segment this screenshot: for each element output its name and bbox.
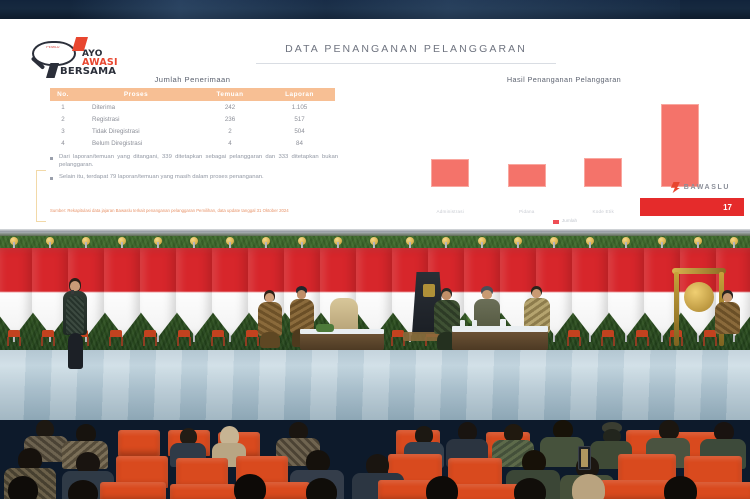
chart-bars (412, 95, 718, 187)
chart-bar (584, 158, 622, 187)
stage-chair (176, 330, 192, 346)
table-row: 4 Belum Diregistrasi 4 84 (50, 138, 335, 150)
ceiling-light-sheen (70, 0, 680, 19)
chart-title: Hasil Penanganan Pelanggaran (404, 75, 724, 84)
cell-temuan: 2 (196, 125, 264, 137)
cell-laporan: 1.105 (264, 101, 335, 113)
audience-seat (118, 430, 160, 456)
audience-member-foreground (648, 476, 714, 499)
penerimaan-table: No. Proses Temuan Laporan 1 Diterima 242… (50, 88, 335, 150)
stage-chair (142, 330, 158, 346)
bullet-text: Selain itu, terdapat 79 laporan/temuan y… (59, 174, 264, 182)
standing-speaker (60, 278, 90, 378)
penerimaan-table-block: Jumlah Penerimaan No. Proses Temuan Lapo… (50, 75, 335, 150)
table-cloth (300, 329, 384, 334)
audience-member-foreground (498, 478, 562, 499)
bullet-dot-icon (50, 177, 53, 180)
stage-chair (600, 330, 616, 346)
cell-no: 1 (50, 101, 76, 113)
audience-member-foreground (292, 478, 354, 499)
audience-area (0, 420, 750, 499)
cell-laporan: 504 (264, 125, 335, 137)
title-divider (256, 63, 556, 64)
logo-glass-text: PEMILU (38, 46, 68, 58)
flag-cloth (176, 248, 214, 336)
flag-cloth (0, 248, 34, 336)
water-bottle (500, 319, 506, 328)
chart-bar (508, 164, 546, 187)
bullet-dot-icon (50, 157, 53, 160)
legend-label: Jumlah (562, 219, 577, 224)
audience-member-foreground (54, 480, 114, 499)
bar-column (567, 95, 640, 187)
audience-member-hijab-foreground (556, 474, 620, 499)
column-header-proses: Proses (76, 88, 196, 101)
table-caption: Jumlah Penerimaan (50, 75, 335, 84)
stage-chair (210, 330, 226, 346)
cell-laporan: 517 (264, 113, 335, 125)
conference-hall (0, 232, 750, 499)
audience-member-foreground (220, 474, 282, 499)
flag-cloth (608, 248, 646, 336)
x-tick-label: Kode Etik (567, 209, 640, 214)
hedge-top-rail (0, 232, 750, 236)
table-row: 1 Diterima 242 1.105 (50, 101, 335, 113)
projection-screen: PEMILU AYO AWASI BERSAMA DATA PENANGANAN… (0, 19, 750, 232)
flag-cloth (572, 248, 610, 336)
stage-chair (566, 330, 582, 346)
conference-table (300, 332, 384, 350)
slide-footnote: Sumber: Rekapitulasi data jajaran Bawasl… (50, 208, 410, 213)
column-header-temuan: Temuan (196, 88, 264, 101)
floor-reflection (0, 350, 750, 420)
water-glass (460, 320, 465, 328)
bullet-text: Dari laporan/temuan yang ditangani, 339 … (59, 154, 338, 169)
column-header-laporan: Laporan (264, 88, 335, 101)
gong-frame-top (672, 268, 726, 274)
slide-title: DATA PENANGANAN PELANGGARAN (256, 43, 556, 55)
gong-frame-left (674, 272, 679, 346)
bawaslu-mark-icon (671, 182, 680, 193)
ceiling-band (0, 0, 750, 19)
conference-table (452, 330, 548, 350)
table-header-row: No. Proses Temuan Laporan (50, 88, 335, 101)
stage-chair (634, 330, 650, 346)
chart-plot-area: Administrasi Pidana Kode Etik Hukum Lain… (412, 95, 718, 187)
stage-chair (108, 330, 124, 346)
cell-temuan: 4 (196, 138, 264, 150)
chart-bar (431, 159, 469, 187)
cell-proses: Belum Diregistrasi (76, 138, 196, 150)
cell-laporan: 84 (264, 138, 335, 150)
chart-bar (661, 104, 699, 187)
smartphone-recording (578, 446, 591, 470)
stage-chair (40, 330, 56, 346)
table-row: 2 Registrasi 236 517 (50, 113, 335, 125)
bullet-list: Dari laporan/temuan yang ditangani, 339 … (50, 154, 338, 187)
cell-no: 3 (50, 125, 76, 137)
audience-member-foreground (0, 476, 56, 499)
bar-column (643, 95, 716, 187)
flag-cloth (104, 248, 142, 336)
water-glass (472, 320, 477, 328)
cell-temuan: 236 (196, 113, 264, 125)
phone-screen (581, 449, 588, 467)
flag-cloth (140, 248, 178, 336)
footnote-bracket (36, 170, 46, 222)
bawaslu-brand: BAWASLU (671, 182, 730, 193)
stage-chair (6, 330, 22, 346)
stage-floor (0, 350, 750, 420)
cell-proses: Diterima (76, 101, 196, 113)
cell-no: 2 (50, 113, 76, 125)
list-item: Dari laporan/temuan yang ditangani, 339 … (50, 154, 338, 169)
audience-member-foreground (410, 476, 474, 499)
legend-swatch-icon (553, 220, 559, 224)
cell-temuan: 242 (196, 101, 264, 113)
bar-column (414, 95, 487, 187)
cell-no: 4 (50, 138, 76, 150)
slide-page-number: 17 (640, 198, 744, 216)
bawaslu-wordmark: BAWASLU (684, 184, 730, 191)
bar-column (490, 95, 563, 187)
chart-legend: Jumlah (412, 219, 718, 224)
table-row: 3 Tidak Diregistrasi 2 504 (50, 125, 335, 137)
seated-panelist (256, 290, 284, 348)
cell-proses: Tidak Diregistrasi (76, 125, 196, 137)
seated-guest (714, 290, 742, 348)
list-item: Selain itu, terdapat 79 laporan/temuan y… (50, 174, 338, 182)
ayo-awasi-bersama-logo: PEMILU AYO AWASI BERSAMA (26, 37, 124, 79)
flag-cloth (356, 248, 394, 336)
column-header-no: No. (50, 88, 76, 101)
flag-cloth (212, 248, 250, 336)
presentation-slide: PEMILU AYO AWASI BERSAMA DATA PENANGANAN… (6, 22, 744, 227)
x-tick-label: Administrasi (414, 209, 487, 214)
screenshot-root: PEMILU AYO AWASI BERSAMA DATA PENANGANAN… (0, 0, 750, 499)
table-plant (316, 324, 334, 332)
gong-disc (684, 282, 714, 312)
cell-proses: Registrasi (76, 113, 196, 125)
x-tick-label: Pidana (490, 209, 563, 214)
